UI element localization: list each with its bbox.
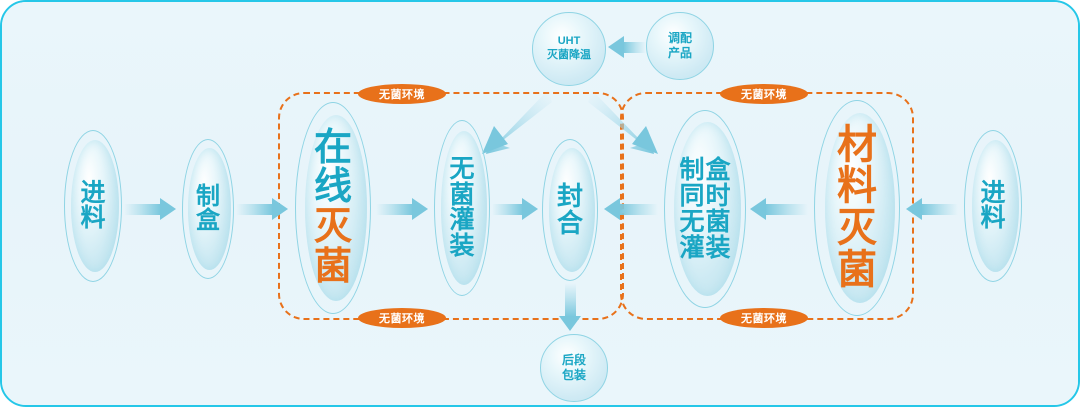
blending-line-2: 产品 <box>668 46 692 61</box>
arrow-head <box>608 36 624 58</box>
blending-line-1: 调配 <box>668 31 692 46</box>
node-label: 无 菌 灌 装 <box>434 120 490 296</box>
label-line-4: 菌 <box>314 248 352 288</box>
badge-sterile-top-right: 无菌环境 <box>720 84 808 104</box>
arrow-sealing-to-downstream-packaging <box>557 283 583 331</box>
label-line-1: 制 <box>196 185 220 209</box>
label-line-1: 进 <box>980 181 1005 207</box>
label-line-1: 无 <box>449 157 474 183</box>
label-line-2: 料 <box>837 166 877 208</box>
arrow-aseptic-filling-to-sealing <box>492 196 538 222</box>
arrow-head <box>160 198 176 220</box>
node-material-sterilization: 材 料 灭 菌 <box>814 100 900 316</box>
packaging-line-1: 后段 <box>562 353 586 368</box>
node-label: 制 盒 <box>182 139 234 279</box>
arrow-shaft <box>565 283 576 317</box>
label-line-4: 装 <box>449 234 474 260</box>
arrow-head <box>750 198 766 220</box>
arrow-shaft <box>492 204 523 215</box>
uht-line-1: UHT <box>558 35 581 49</box>
label-line-2: 料 <box>980 206 1005 232</box>
node-label: 在 线 灭 菌 <box>295 102 371 314</box>
label-r4c2: 装 <box>706 235 731 261</box>
label-r3c2: 菌 <box>706 209 731 235</box>
uht-line-2: 灭菌降温 <box>547 49 591 63</box>
node-label: 封 合 <box>542 139 598 281</box>
label-line-1: 封 <box>557 183 583 210</box>
arrow-head <box>604 198 620 220</box>
node-label: 进 料 <box>64 130 122 282</box>
arrow-shaft <box>765 204 808 215</box>
node-feed-left: 进 料 <box>64 130 122 282</box>
label-line-1: 在 <box>314 129 352 169</box>
badge-sterile-bottom-left: 无菌环境 <box>358 308 446 328</box>
arrow-shaft <box>124 204 161 215</box>
arrow-head <box>522 198 538 220</box>
arrow-shaft <box>376 204 413 215</box>
node-form-fill-seal: 制 盒 同 时 无 菌 灌 装 <box>664 110 746 308</box>
arrow-form-fill-seal-to-sealing <box>604 196 658 222</box>
arrow-feed-left-to-carton <box>124 196 176 222</box>
circle-uht-sterilization: UHT 灭菌降温 <box>532 12 606 86</box>
label-line-2: 菌 <box>449 183 474 209</box>
circle-downstream-packaging: 后段 包装 <box>540 334 608 402</box>
arrow-head <box>412 198 428 220</box>
label-r2c2: 时 <box>706 183 731 209</box>
arrow-material-sterilization-to-form-fill-seal <box>750 196 808 222</box>
arrow-inline-sterilization-to-aseptic-filling <box>376 196 428 222</box>
label-r4c1: 灌 <box>679 235 704 261</box>
label-line-3: 灭 <box>314 208 352 248</box>
label-line-2: 合 <box>557 210 583 237</box>
label-line-1: 进 <box>80 181 105 207</box>
label-line-1: 材 <box>837 125 877 167</box>
label-line-3: 灭 <box>837 208 877 250</box>
badge-sterile-bottom-right: 无菌环境 <box>720 308 808 328</box>
label-line-2: 料 <box>80 206 105 232</box>
node-carton-forming: 制 盒 <box>182 139 234 279</box>
node-feed-right: 进 料 <box>964 130 1022 282</box>
label-line-2: 线 <box>314 168 352 208</box>
arrow-carton-to-inline-sterilization <box>236 196 288 222</box>
node-inline-sterilization: 在 线 灭 菌 <box>295 102 371 314</box>
node-label: 制 盒 同 时 无 菌 灌 装 <box>664 110 746 308</box>
arrow-shaft <box>921 204 958 215</box>
packaging-line-2: 包装 <box>562 368 586 383</box>
label-line-3: 灌 <box>449 208 474 234</box>
label-r1c1: 制 <box>679 157 704 183</box>
label-r2c1: 同 <box>679 183 704 209</box>
node-label: 材 料 灭 菌 <box>814 100 900 316</box>
node-label: 进 料 <box>964 130 1022 282</box>
label-r1c2: 盒 <box>706 157 731 183</box>
arrow-head <box>559 316 581 331</box>
circle-product-blending: 调配 产品 <box>646 12 714 80</box>
badge-sterile-top-left: 无菌环境 <box>358 84 446 104</box>
diagram-layer: 无菌环境 无菌环境 无菌环境 无菌环境 UHT 灭菌降温 调配 产品 后段 包装… <box>2 2 1078 405</box>
node-aseptic-filling: 无 菌 灌 装 <box>434 120 490 296</box>
label-grid: 制 盒 同 时 无 菌 灌 装 <box>679 157 730 261</box>
node-sealing: 封 合 <box>542 139 598 281</box>
diagram-canvas: 无菌环境 无菌环境 无菌环境 无菌环境 UHT 灭菌降温 调配 产品 后段 包装… <box>0 0 1080 407</box>
arrow-shaft <box>623 42 646 53</box>
arrow-blending-to-uht <box>608 35 646 59</box>
label-r3c1: 无 <box>679 209 704 235</box>
arrow-head <box>906 198 922 220</box>
label-line-2: 盒 <box>196 209 220 233</box>
arrow-head <box>272 198 288 220</box>
arrow-shaft <box>236 204 273 215</box>
arrow-feed-right-to-material-sterilization <box>906 196 958 222</box>
arrow-shaft <box>619 204 658 215</box>
label-line-4: 菌 <box>837 250 877 292</box>
